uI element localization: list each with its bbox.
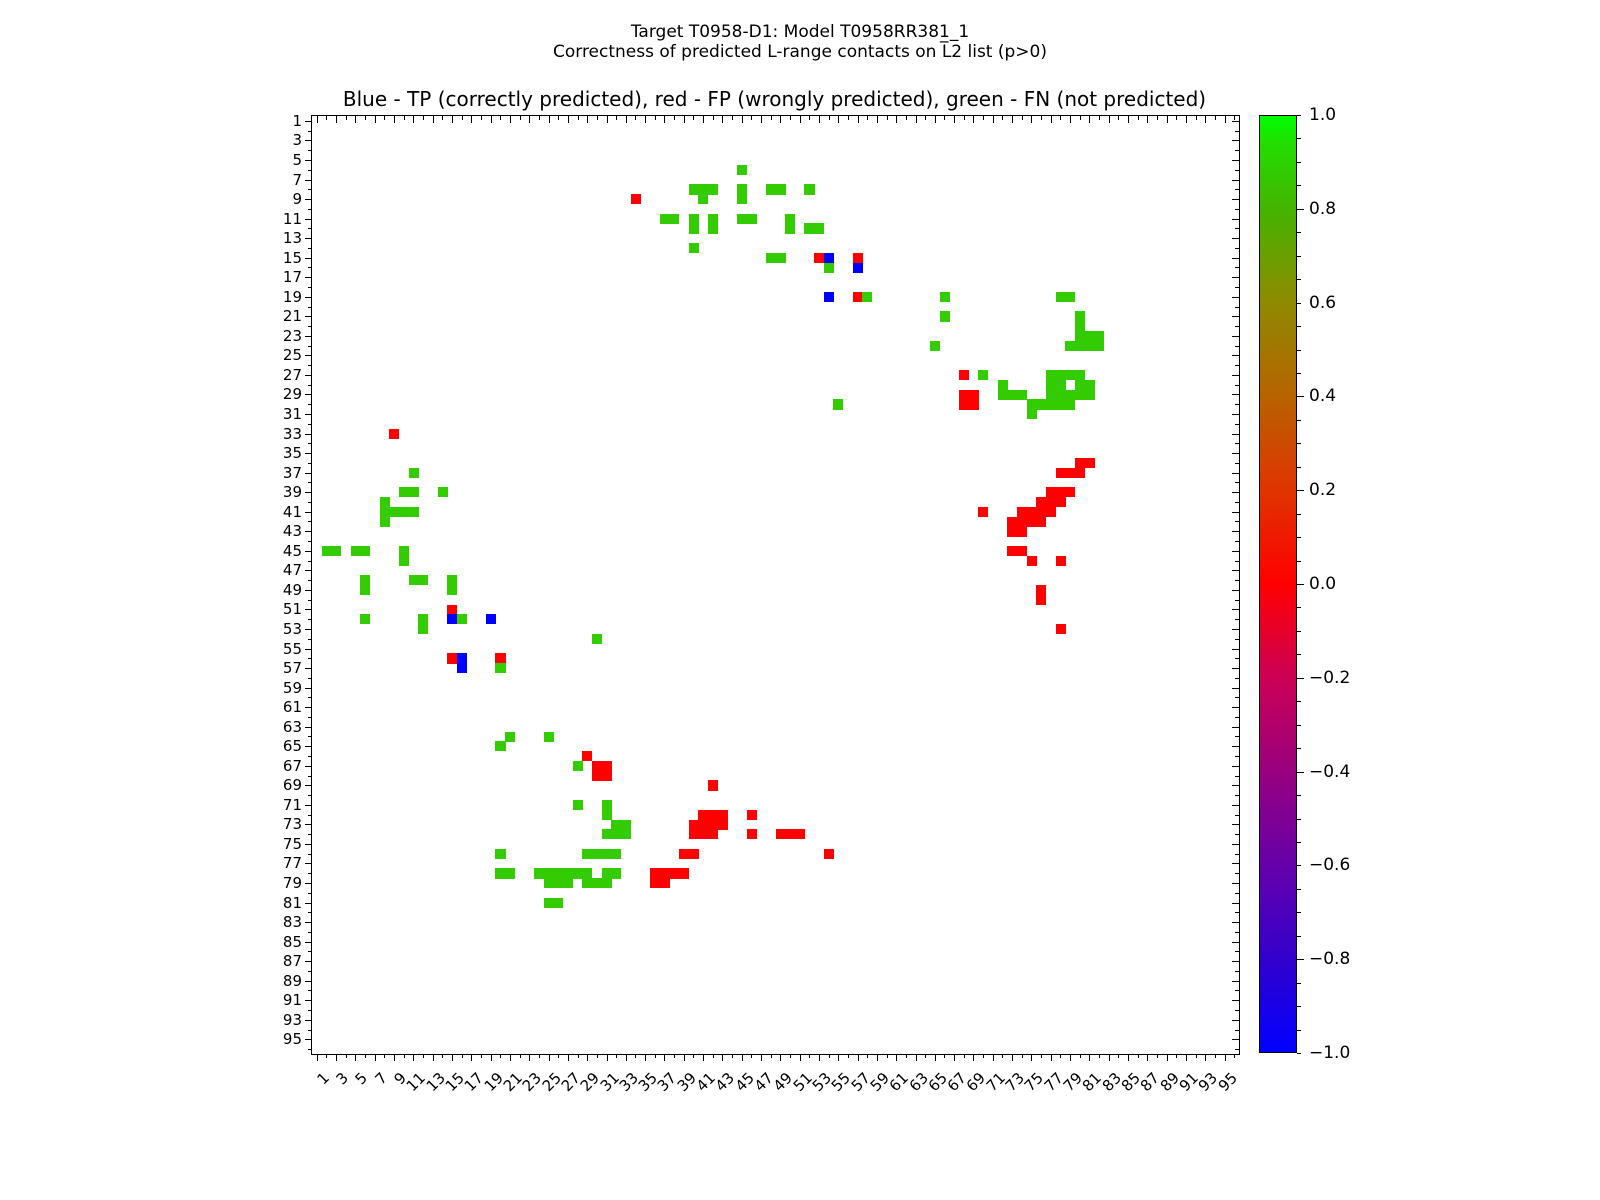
- x-axis-tick-top: [742, 116, 743, 123]
- x-axis-tick: [848, 1054, 849, 1058]
- x-axis-tick: [751, 1054, 752, 1058]
- contact-cell: [592, 771, 602, 781]
- x-axis-tick: [404, 1054, 405, 1058]
- contact-cell: [380, 497, 390, 507]
- colorbar-tick: [1297, 162, 1301, 163]
- y-axis-tick-label: 87: [283, 952, 302, 970]
- contact-cell: [766, 253, 776, 263]
- y-axis-tick-label: 11: [283, 210, 302, 228]
- x-axis-tick-top: [539, 116, 540, 120]
- contact-cell: [1075, 468, 1085, 478]
- y-axis-tick: [305, 570, 312, 571]
- contact-cell: [698, 820, 708, 830]
- y-axis-tick-label: 45: [283, 542, 302, 560]
- contact-cell: [814, 223, 824, 233]
- colorbar-tick: [1297, 396, 1304, 397]
- x-axis-tick: [346, 1054, 347, 1058]
- y-axis-tick-label: 27: [283, 366, 302, 384]
- y-axis-tick: [308, 502, 312, 503]
- contact-cell: [708, 780, 718, 790]
- contact-cell: [650, 868, 660, 878]
- y-axis-tick: [305, 727, 312, 728]
- y-axis-tick-right: [1232, 238, 1239, 239]
- contact-cell: [708, 223, 718, 233]
- colorbar-tick: [1297, 138, 1301, 139]
- x-axis-tick-top: [394, 116, 395, 123]
- x-axis-tick-top: [964, 116, 965, 120]
- colorbar-tick: [1297, 959, 1304, 960]
- contact-cell: [1007, 517, 1017, 527]
- contact-cell: [814, 253, 824, 263]
- x-axis-tick: [916, 1054, 917, 1061]
- contact-cell: [669, 868, 679, 878]
- contact-cell: [409, 575, 419, 585]
- x-axis-tick: [713, 1054, 714, 1058]
- x-axis-tick-top: [722, 116, 723, 123]
- contact-cell: [360, 575, 370, 585]
- x-axis-tick: [520, 1054, 521, 1058]
- y-axis-tick: [305, 981, 312, 982]
- contact-cell: [1056, 556, 1066, 566]
- x-axis-tick: [1215, 1054, 1216, 1058]
- contact-cell: [495, 849, 505, 859]
- y-axis-tick-right: [1235, 815, 1239, 816]
- x-axis-tick-top: [1128, 116, 1129, 123]
- contact-cell: [495, 741, 505, 751]
- y-axis-tick-right: [1235, 443, 1239, 444]
- contact-cell: [669, 214, 679, 224]
- contact-cell: [438, 487, 448, 497]
- contact-cell: [747, 214, 757, 224]
- y-axis-tick: [308, 834, 312, 835]
- x-axis-tick: [867, 1054, 868, 1058]
- contact-cell: [582, 849, 592, 859]
- contact-cell: [804, 223, 814, 233]
- x-axis-tick: [539, 1054, 540, 1058]
- colorbar-tick: [1297, 443, 1301, 444]
- colorbar-tick: [1297, 537, 1301, 538]
- x-axis-tick-top: [925, 116, 926, 120]
- x-axis-tick: [1157, 1054, 1158, 1058]
- contact-cell: [1065, 390, 1075, 400]
- x-axis-tick: [326, 1054, 327, 1058]
- x-axis-tick-top: [597, 116, 598, 120]
- x-axis-tick-top: [983, 116, 984, 120]
- x-axis-tick-top: [1060, 116, 1061, 120]
- y-axis-tick: [308, 912, 312, 913]
- contact-cell: [689, 184, 699, 194]
- contact-cell: [602, 810, 612, 820]
- x-axis-tick-top: [549, 116, 550, 123]
- y-axis-tick: [308, 267, 312, 268]
- y-axis-tick: [308, 815, 312, 816]
- contact-cell: [804, 184, 814, 194]
- y-axis-tick: [305, 453, 312, 454]
- x-axis-tick-top: [732, 116, 733, 120]
- y-axis-tick: [308, 1010, 312, 1011]
- x-axis-tick: [597, 1054, 598, 1058]
- x-axis-tick-top: [896, 116, 897, 123]
- x-axis-tick: [1060, 1054, 1061, 1058]
- y-axis-tick-right: [1235, 267, 1239, 268]
- y-axis-tick-label: 5: [292, 151, 302, 169]
- y-axis-tick-right: [1232, 570, 1239, 571]
- y-axis-tick-right: [1232, 375, 1239, 376]
- contact-cell: [1017, 390, 1027, 400]
- contact-cell: [505, 732, 515, 742]
- y-axis-tick: [305, 238, 312, 239]
- y-axis-tick: [308, 131, 312, 132]
- contact-map-plot-area[interactable]: 1133557799111113131515171719192121232325…: [311, 115, 1240, 1055]
- y-axis-tick-label: 17: [283, 268, 302, 286]
- contact-cell: [602, 878, 612, 888]
- y-axis-tick: [308, 951, 312, 952]
- y-axis-tick: [308, 990, 312, 991]
- contact-cell: [1065, 370, 1075, 380]
- contact-cell: [660, 878, 670, 888]
- y-axis-tick-right: [1232, 922, 1239, 923]
- x-axis-tick: [722, 1054, 723, 1061]
- contact-cell: [592, 878, 602, 888]
- y-axis-tick-label: 93: [283, 1011, 302, 1029]
- contact-cell: [1046, 497, 1056, 507]
- x-axis-tick-top: [809, 116, 810, 120]
- x-axis-tick: [423, 1054, 424, 1058]
- contact-cell: [380, 517, 390, 527]
- y-axis-tick-right: [1232, 180, 1239, 181]
- y-axis-tick-label: 39: [283, 483, 302, 501]
- contact-cell: [1007, 546, 1017, 556]
- x-axis-tick-label: 5: [352, 1066, 374, 1088]
- colorbar-tick-label: −0.8: [1309, 949, 1350, 969]
- contact-cell: [505, 868, 515, 878]
- x-axis-tick-top: [317, 116, 318, 123]
- x-axis-tick: [877, 1054, 878, 1061]
- y-axis-tick: [305, 629, 312, 630]
- contact-cell: [679, 868, 689, 878]
- y-axis-tick-right: [1235, 756, 1239, 757]
- contact-cell: [602, 849, 612, 859]
- x-axis-tick: [587, 1054, 588, 1061]
- y-axis-tick-label: 7: [292, 171, 302, 189]
- y-axis-tick-right: [1235, 248, 1239, 249]
- y-axis-tick-label: 3: [292, 131, 302, 149]
- contact-cell: [611, 829, 621, 839]
- contact-cell: [853, 292, 863, 302]
- y-axis-tick-right: [1235, 1049, 1239, 1050]
- y-axis-tick-right: [1232, 883, 1239, 884]
- x-axis-tick-top: [1041, 116, 1042, 120]
- x-axis-tick-top: [935, 116, 936, 123]
- contact-cell: [998, 380, 1008, 390]
- y-axis-tick-label: 73: [283, 815, 302, 833]
- y-axis-tick: [308, 1049, 312, 1050]
- contact-cell: [776, 184, 786, 194]
- y-axis-tick-label: 65: [283, 737, 302, 755]
- y-axis-tick: [308, 932, 312, 933]
- x-axis-tick: [413, 1054, 414, 1061]
- contact-cell: [698, 829, 708, 839]
- colorbar-tick: [1297, 584, 1304, 585]
- colorbar-tick: [1297, 819, 1301, 820]
- colorbar-tick-label: 0.4: [1309, 386, 1336, 406]
- contact-cell-layer: [312, 116, 1239, 1054]
- colorbar-tick: [1297, 795, 1301, 796]
- colorbar-tick: [1297, 467, 1301, 468]
- contact-cell: [998, 390, 1008, 400]
- x-axis-tick-top: [1118, 116, 1119, 120]
- x-axis-tick: [809, 1054, 810, 1058]
- contact-cell: [689, 849, 699, 859]
- x-axis-tick: [549, 1054, 550, 1061]
- y-axis-tick-right: [1235, 228, 1239, 229]
- y-axis-tick: [308, 1030, 312, 1031]
- y-axis-tick-right: [1235, 502, 1239, 503]
- y-axis-tick-label: 91: [283, 991, 302, 1009]
- x-axis-tick-top: [1031, 116, 1032, 123]
- contact-cell: [824, 253, 834, 263]
- contact-cell: [969, 399, 979, 409]
- x-axis-tick-label: 7: [371, 1066, 393, 1088]
- colorbar-tick: [1297, 607, 1301, 608]
- colorbar-tick: [1297, 772, 1304, 773]
- contact-cell: [689, 214, 699, 224]
- y-axis-tick: [308, 580, 312, 581]
- y-axis-tick-right: [1232, 531, 1239, 532]
- contact-cell: [698, 810, 708, 820]
- colorbar-tick-label: 0.6: [1309, 293, 1336, 313]
- contact-cell: [737, 165, 747, 175]
- x-axis-tick-top: [442, 116, 443, 120]
- y-axis-tick-right: [1235, 307, 1239, 308]
- contact-cell: [689, 829, 699, 839]
- y-axis-tick: [308, 854, 312, 855]
- x-axis-tick: [491, 1054, 492, 1061]
- contact-cell: [940, 292, 950, 302]
- x-axis-tick: [954, 1054, 955, 1061]
- contact-cell: [447, 585, 457, 595]
- contact-cell: [698, 194, 708, 204]
- x-axis-tick: [1089, 1054, 1090, 1061]
- y-axis-tick: [308, 893, 312, 894]
- x-axis-tick: [742, 1054, 743, 1061]
- y-axis-tick: [308, 619, 312, 620]
- contact-cell: [1046, 370, 1056, 380]
- contact-cell: [331, 546, 341, 556]
- y-axis-tick-right: [1235, 541, 1239, 542]
- contact-cell: [747, 810, 757, 820]
- colorbar-tick: [1297, 256, 1301, 257]
- contact-map-figure: Target T0958-D1: Model T0958RR381_1 Corr…: [0, 0, 1600, 1200]
- contact-cell: [389, 507, 399, 517]
- contact-cell: [1007, 390, 1017, 400]
- x-axis-tick-top: [1225, 116, 1226, 123]
- x-axis-tick-top: [1109, 116, 1110, 123]
- x-axis-tick-top: [607, 116, 608, 123]
- colorbar-tick: [1297, 303, 1301, 304]
- x-axis-tick: [1167, 1054, 1168, 1061]
- colorbar-tick-label: 0.0: [1309, 574, 1336, 594]
- x-axis-tick-top: [800, 116, 801, 123]
- y-axis-tick-right: [1232, 258, 1239, 259]
- contact-cell: [689, 223, 699, 233]
- y-axis-tick-label: 51: [283, 600, 302, 618]
- y-axis-tick-label: 71: [283, 796, 302, 814]
- colorbar-tick: [1297, 631, 1301, 632]
- y-axis-tick: [308, 150, 312, 151]
- x-axis-tick-top: [384, 116, 385, 120]
- y-axis-tick-right: [1232, 453, 1239, 454]
- colorbar-tick: [1297, 490, 1304, 491]
- y-axis-tick-right: [1235, 971, 1239, 972]
- y-axis-tick: [305, 473, 312, 474]
- y-axis-tick-right: [1235, 561, 1239, 562]
- x-axis-tick-top: [1176, 116, 1177, 120]
- x-axis-tick-top: [520, 116, 521, 120]
- y-axis-tick-right: [1232, 746, 1239, 747]
- y-axis-tick: [305, 551, 312, 552]
- x-axis-tick-top: [471, 116, 472, 123]
- x-axis-tick: [645, 1054, 646, 1061]
- y-axis-tick-right: [1235, 678, 1239, 679]
- x-axis-tick-top: [626, 116, 627, 123]
- contact-cell: [1046, 390, 1056, 400]
- y-axis-tick: [305, 512, 312, 513]
- x-axis-tick: [384, 1054, 385, 1058]
- y-axis-tick-right: [1235, 639, 1239, 640]
- contact-cell: [447, 605, 457, 615]
- colorbar-tick-label: −0.2: [1309, 668, 1350, 688]
- y-axis-tick-right: [1235, 521, 1239, 522]
- contact-cell: [708, 810, 718, 820]
- y-axis-tick-right: [1235, 932, 1239, 933]
- y-axis-tick: [308, 482, 312, 483]
- contact-cell: [1027, 507, 1037, 517]
- y-axis-tick-right: [1232, 512, 1239, 513]
- y-axis-tick: [305, 668, 312, 669]
- y-axis-tick: [305, 336, 312, 337]
- x-axis-tick: [1225, 1054, 1226, 1061]
- y-axis-tick: [305, 492, 312, 493]
- colorbar-tick: [1297, 889, 1301, 890]
- x-axis-tick-top: [655, 116, 656, 120]
- y-axis-tick: [308, 561, 312, 562]
- contact-cell: [1027, 517, 1037, 527]
- y-axis-tick: [305, 434, 312, 435]
- y-axis-tick-label: 13: [283, 229, 302, 247]
- y-axis-tick: [308, 678, 312, 679]
- contact-cell: [708, 820, 718, 830]
- y-axis-tick: [308, 795, 312, 796]
- y-axis-tick-right: [1235, 170, 1239, 171]
- y-axis-tick-right: [1232, 492, 1239, 493]
- y-axis-tick-label: 15: [283, 249, 302, 267]
- y-axis-tick-right: [1235, 463, 1239, 464]
- y-axis-tick: [305, 140, 312, 141]
- y-axis-tick-right: [1232, 649, 1239, 650]
- colorbar-tick: [1297, 209, 1304, 210]
- contact-cell: [1075, 380, 1085, 390]
- y-axis-tick: [308, 287, 312, 288]
- y-axis-tick-label: 75: [283, 835, 302, 853]
- x-axis-tick-top: [558, 116, 559, 120]
- contact-cell: [785, 223, 795, 233]
- y-axis-tick-label: 9: [292, 190, 302, 208]
- y-axis-tick-right: [1232, 590, 1239, 591]
- x-axis-tick-top: [326, 116, 327, 120]
- contact-cell: [708, 829, 718, 839]
- contact-cell: [660, 868, 670, 878]
- x-axis-tick-top: [1002, 116, 1003, 120]
- contact-cell: [544, 868, 554, 878]
- colorbar-tick: [1297, 654, 1301, 655]
- contact-cell: [1017, 517, 1027, 527]
- x-axis-tick: [935, 1054, 936, 1061]
- y-axis-tick: [308, 717, 312, 718]
- x-axis-tick: [925, 1054, 926, 1058]
- contact-cell: [409, 487, 419, 497]
- colorbar-tick-label: −1.0: [1309, 1043, 1350, 1063]
- x-axis-tick-top: [510, 116, 511, 123]
- contact-cell: [409, 468, 419, 478]
- contact-cell: [457, 653, 467, 663]
- x-axis-tick-top: [578, 116, 579, 120]
- contact-cell: [785, 214, 795, 224]
- y-axis-tick: [308, 443, 312, 444]
- y-axis-tick: [305, 609, 312, 610]
- colorbar-tick-label: 0.8: [1309, 199, 1336, 219]
- y-axis-tick-label: 21: [283, 307, 302, 325]
- colorbar[interactable]: 1.00.80.60.40.20.0−0.2−0.4−0.6−0.8−1.0: [1259, 115, 1297, 1053]
- x-axis-tick-top: [906, 116, 907, 120]
- contact-cell: [862, 292, 872, 302]
- contact-cell: [602, 868, 612, 878]
- x-axis-tick: [1109, 1054, 1110, 1061]
- y-axis-tick: [308, 326, 312, 327]
- x-axis-tick-top: [1186, 116, 1187, 123]
- y-axis-tick: [305, 297, 312, 298]
- contact-cell: [1065, 487, 1075, 497]
- y-axis-tick: [305, 394, 312, 395]
- x-axis-tick-top: [616, 116, 617, 120]
- contact-cell: [660, 214, 670, 224]
- y-axis-tick-right: [1232, 766, 1239, 767]
- y-axis-tick-right: [1235, 697, 1239, 698]
- x-axis-tick-top: [1205, 116, 1206, 123]
- x-axis-tick: [858, 1054, 859, 1061]
- x-axis-tick-top: [346, 116, 347, 120]
- x-axis-tick: [887, 1054, 888, 1058]
- y-axis-tick-label: 67: [283, 757, 302, 775]
- contact-cell: [553, 898, 563, 908]
- x-axis-tick: [761, 1054, 762, 1061]
- x-axis-tick: [336, 1054, 337, 1061]
- y-axis-tick-label: 49: [283, 581, 302, 599]
- x-axis-tick: [1118, 1054, 1119, 1058]
- y-axis-tick: [308, 639, 312, 640]
- y-axis-tick-right: [1232, 1020, 1239, 1021]
- x-axis-tick-top: [529, 116, 530, 123]
- y-axis-tick-right: [1235, 990, 1239, 991]
- x-axis-tick-top: [1051, 116, 1052, 123]
- contact-cell: [399, 546, 409, 556]
- colorbar-tick: [1297, 326, 1301, 327]
- contact-cell: [1065, 341, 1075, 351]
- contact-cell: [447, 614, 457, 624]
- y-axis-tick-right: [1235, 951, 1239, 952]
- y-axis-tick-label: 23: [283, 327, 302, 345]
- y-axis-tick-right: [1235, 854, 1239, 855]
